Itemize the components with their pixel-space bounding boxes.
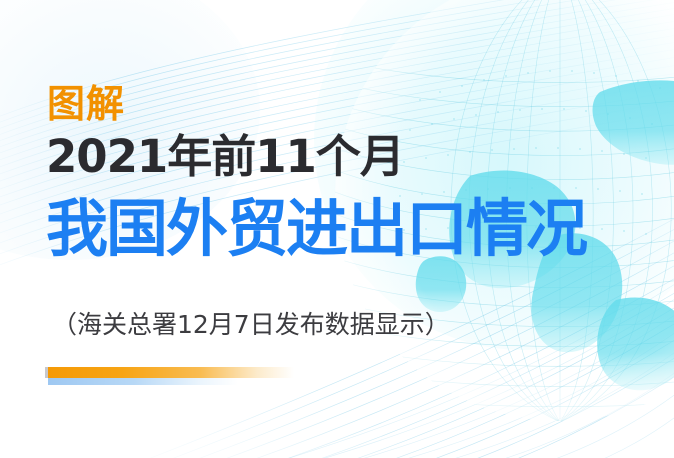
orange-divider-bar (48, 367, 294, 378)
page-title: 我国外贸进出口情况 (46, 192, 586, 266)
tujie-badge: 图解 (47, 83, 125, 125)
blue-divider-bar (48, 378, 238, 385)
infographic-poster: 图解 2021年前11个月 我国外贸进出口情况 （海关总署12月7日发布数据显示… (0, 0, 674, 458)
poster-content: 图解 2021年前11个月 我国外贸进出口情况 （海关总署12月7日发布数据显示… (0, 0, 674, 458)
headline-year: 2021年前11个月 (46, 131, 404, 183)
source-subtitle: （海关总署12月7日发布数据显示） (52, 308, 450, 342)
